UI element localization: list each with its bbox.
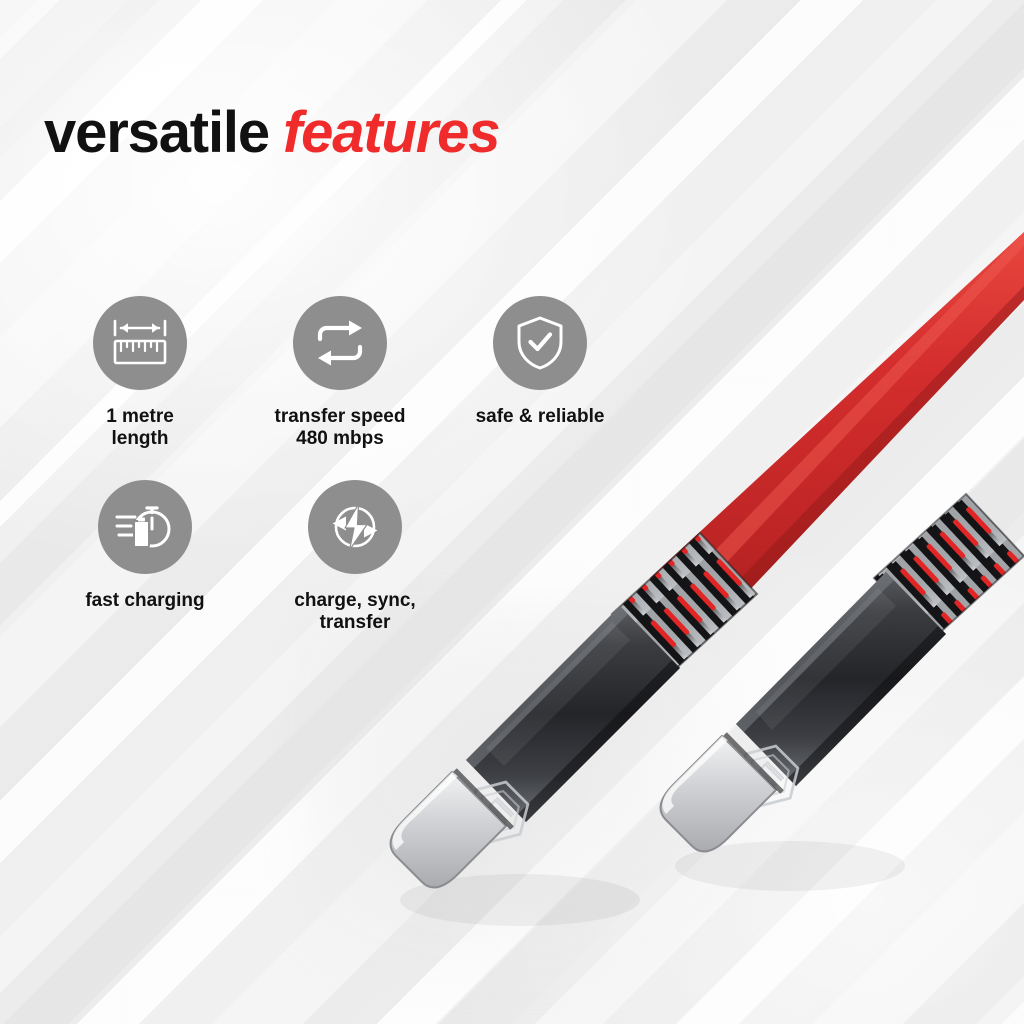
background-texture-blotch <box>300 600 820 1020</box>
feature-caption-charge-sync-transfer: charge, sync, transfer <box>294 590 415 634</box>
fast-charging-icon <box>115 501 175 553</box>
transfer-arrows-icon-badge <box>293 296 387 390</box>
feature-caption-transfer-speed: transfer speed 480 mbps <box>275 406 406 450</box>
feature-item-length: 1 metre length <box>40 296 240 450</box>
feature-caption-safe-reliable: safe & reliable <box>476 406 605 428</box>
shield-check-icon <box>515 315 565 371</box>
charge-sync-transfer-icon <box>327 499 383 555</box>
feature-item-safe-reliable: safe & reliable <box>440 296 640 428</box>
feature-caption-fast-charging: fast charging <box>85 590 204 612</box>
feature-item-fast-charging: fast charging <box>40 480 250 612</box>
feature-row-2: fast charging charge, sync, transfer <box>40 480 640 634</box>
transfer-arrows-icon <box>311 318 369 368</box>
feature-caption-length: 1 metre length <box>106 406 174 450</box>
feature-item-transfer-speed: transfer speed 480 mbps <box>240 296 440 450</box>
headline-word-features: features <box>283 100 499 165</box>
fast-charging-icon-badge <box>98 480 192 574</box>
page-title: versatilefeatures <box>44 104 499 162</box>
feature-item-charge-sync-transfer: charge, sync, transfer <box>250 480 460 634</box>
ruler-icon-badge <box>93 296 187 390</box>
headline-word-versatile: versatile <box>44 100 269 165</box>
feature-list: 1 metre length transfer speed 480 mbps <box>40 296 640 634</box>
charge-sync-transfer-icon-badge <box>308 480 402 574</box>
product-feature-banner: versatilefeatures 1 metre length <box>0 0 1024 1024</box>
feature-row-1: 1 metre length transfer speed 480 mbps <box>40 296 640 450</box>
shield-check-icon-badge <box>493 296 587 390</box>
ruler-icon <box>111 317 169 369</box>
